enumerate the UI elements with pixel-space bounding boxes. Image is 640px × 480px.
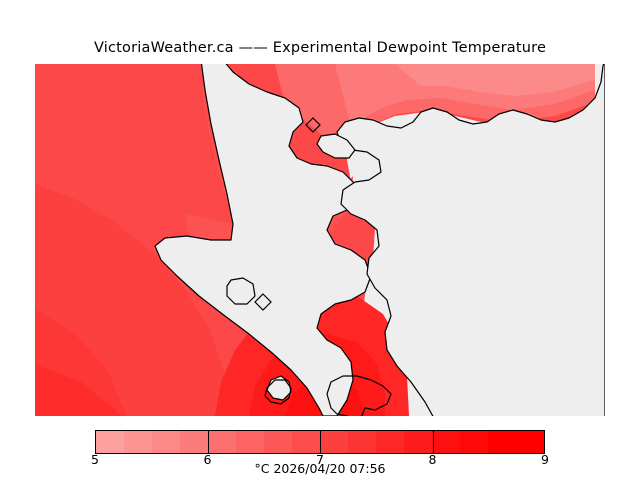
colorbar-swatch-12 [432, 431, 460, 453]
colorbar-swatch-15 [516, 431, 544, 453]
page-title: VictoriaWeather.ca —— Experimental Dewpo… [0, 40, 640, 56]
colorbar-swatch-14 [488, 431, 516, 453]
colorbar-swatch-3 [180, 431, 208, 453]
map-canvas [35, 64, 605, 416]
colorbar-caption: °C 2026/04/20 07:56 [0, 461, 640, 476]
colorbar-swatch-8 [320, 431, 348, 453]
colorbar-swatch-10 [376, 431, 404, 453]
colorbar-swatch-5 [236, 431, 264, 453]
colorbar-swatch-6 [264, 431, 292, 453]
colorbar-swatch-2 [152, 431, 180, 453]
colorbar-swatch-13 [460, 431, 488, 453]
colorbar-swatch-0 [96, 431, 124, 453]
colorbar-swatch-9 [348, 431, 376, 453]
weather-map[interactable] [35, 64, 605, 416]
colorbar[interactable] [95, 430, 545, 454]
colorbar-swatch-7 [292, 431, 320, 453]
colorbar-swatch-4 [208, 431, 236, 453]
colorbar-swatch-11 [404, 431, 432, 453]
colorbar-gradient[interactable] [95, 430, 545, 454]
colorbar-swatch-1 [124, 431, 152, 453]
